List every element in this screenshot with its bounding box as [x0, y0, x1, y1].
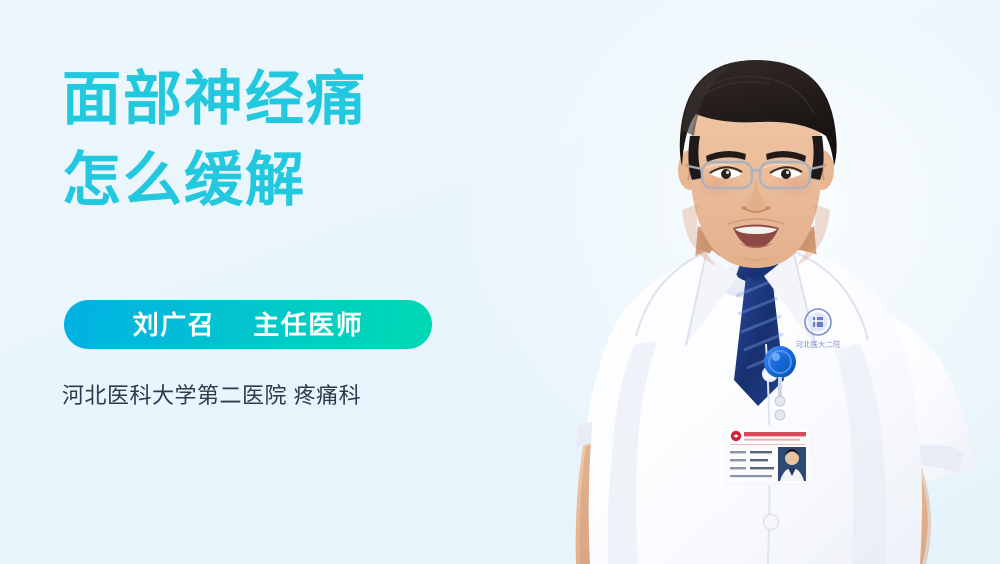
- doctor-portrait: 河北医大二院: [530, 44, 1000, 564]
- headline-line-1: 面部神经痛: [62, 70, 532, 129]
- doctor-name-badge: 刘广召 主任医师: [64, 300, 432, 349]
- headline-block: 面部神经痛 怎么缓解: [62, 70, 532, 210]
- headline-line-2: 怎么缓解: [62, 151, 532, 210]
- doctor-name: 刘广召: [133, 312, 216, 338]
- svg-text:河北医大二院: 河北医大二院: [796, 339, 841, 349]
- doctor-title: 主任医师: [253, 312, 363, 338]
- hospital-affiliation: 河北医科大学第二医院 疼痛科: [62, 378, 361, 410]
- promo-banner: 河北医大二院: [0, 0, 1000, 564]
